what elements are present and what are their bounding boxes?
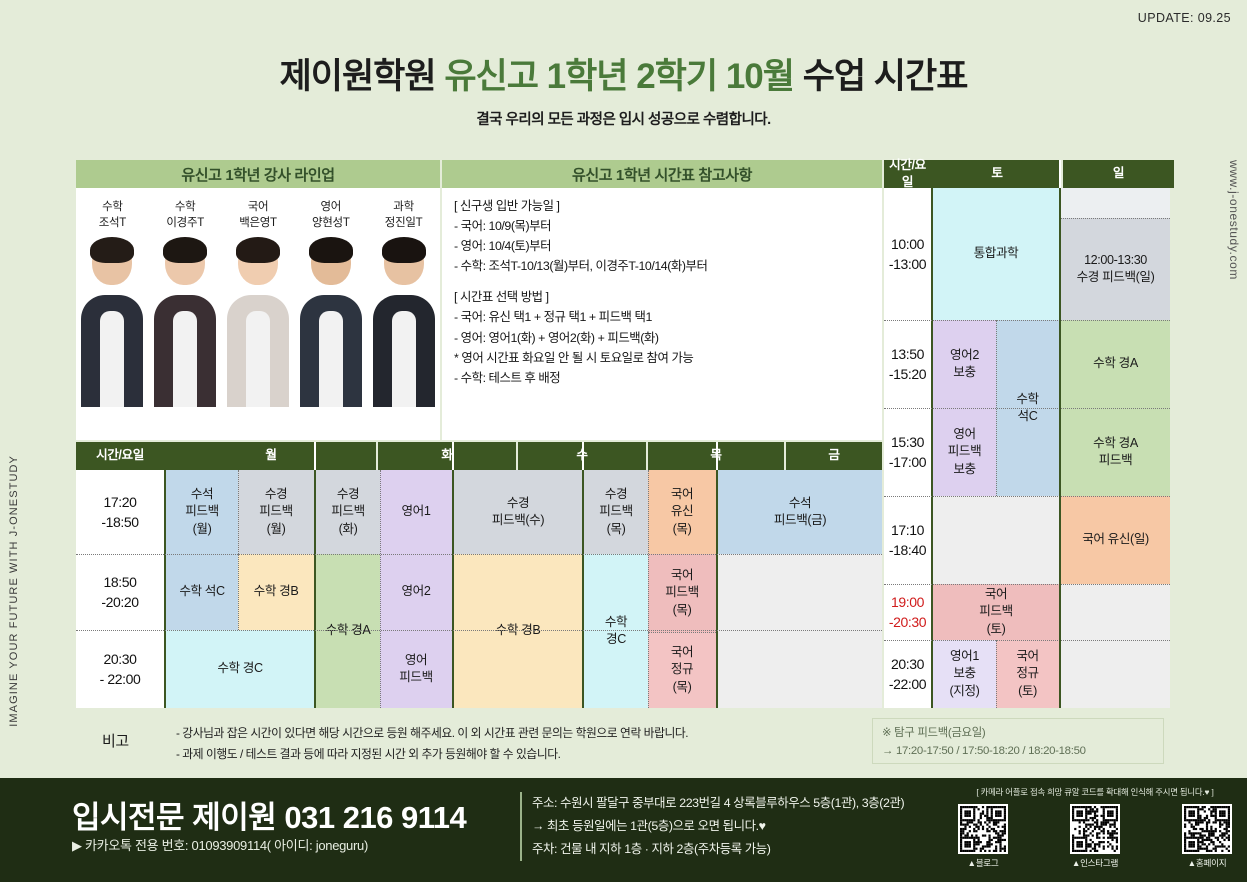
address-line: 주차: 건물 내 지하 1층 · 지하 2층(주차등록 가능) (532, 838, 904, 861)
weekend-class-cell[interactable]: 영어피드백보충 (933, 408, 996, 496)
qr-code-image[interactable] (1182, 804, 1232, 854)
weekend-col-divider (996, 320, 997, 496)
weekday-row-divider (76, 554, 882, 555)
weekday-table: 시간/요일월화수목금17:20-18:5018:50-20:2020:30- 2… (76, 442, 882, 708)
notes-group-admission: [ 신구생 입반 가능일 ]- 국어: 10/9(목)부터- 영어: 10/4(… (454, 196, 872, 276)
remarks-section: 비고 - 강사님과 잡은 시간이 있다면 해당 시간으로 등원 해주세요. 이 … (76, 714, 1170, 772)
weekday-time-slot: 18:50-20:20 (76, 554, 164, 630)
notes-spacer (454, 276, 872, 287)
weekday-header-5: 금 (786, 442, 882, 470)
weekday-class-cell[interactable]: 영어1 (380, 470, 452, 554)
teacher-card: 수학조석T (76, 188, 149, 440)
weekend-divider (931, 160, 933, 708)
weekend-class-cell[interactable]: 통합과학 (933, 188, 1059, 320)
qr-instruction: [ 카메라 어플로 접속 희망 큐알 코드를 확대해 인식해 주시면 됩니다.♥… (950, 786, 1240, 798)
weekday-col-divider (452, 470, 454, 708)
poster-root: UPDATE: 09.25 제이원학원 유신고 1학년 2학기 10월 수업 시… (0, 0, 1247, 882)
teacher-photo (374, 239, 434, 407)
weekday-class-cell[interactable]: 영어2 (380, 554, 452, 630)
weekend-class-cell[interactable]: 12:00-13:30수경 피드백(일) (1061, 218, 1170, 320)
footer-phone: 입시전문 제이원 031 216 9114 (72, 792, 466, 837)
remark-line: - 강사님과 잡은 시간이 있다면 해당 시간으로 등원 해주세요. 이 외 시… (176, 723, 688, 744)
title-suffix: 수업 시간표 (803, 57, 968, 96)
weekend-class-cell[interactable]: 수학 경A피드백 (1061, 408, 1170, 496)
weekend-empty-cell (933, 496, 1059, 584)
teacher-card: 수학이경주T (149, 188, 222, 440)
weekend-row-divider (884, 640, 1170, 641)
weekday-header-1: 월 (166, 442, 376, 470)
remarks-lines: - 강사님과 잡은 시간이 있다면 해당 시간으로 등원 해주세요. 이 외 시… (176, 723, 688, 764)
left-vertical-tagline: IMAGINE YOUR FUTURE WITH J-ONESTUDY (8, 455, 20, 727)
teacher-name: 과학정진일T (385, 200, 423, 231)
qr-label: ▲인스타그램 (1072, 857, 1118, 869)
weekend-class-cell[interactable] (1061, 584, 1170, 708)
schedule-board: 유신고 1학년 강사 라인업 유신고 1학년 시간표 참고사항 수학조석T수학이… (76, 160, 1170, 708)
teacher-card: 영어양현성T (294, 188, 367, 440)
qr-label: ▲홈페이지 (1188, 857, 1227, 869)
qr-code-image[interactable] (1070, 804, 1120, 854)
weekday-class-cell[interactable]: 수경피드백(화) (316, 470, 380, 554)
footer-address: 주소: 수원시 팔달구 중부대로 223번길 4 상록블루하우스 5층(1관),… (520, 792, 904, 861)
qr-code-image[interactable] (958, 804, 1008, 854)
weekend-class-cell[interactable]: 국어 유신(일) (1061, 496, 1170, 584)
weekday-class-cell[interactable]: 수학 경C (166, 630, 314, 708)
weekend-time-slot: 15:30-17:00 (884, 408, 931, 496)
note-line: [ 시간표 선택 방법 ] (454, 287, 872, 307)
weekday-divider (716, 442, 718, 470)
teacher-photo (82, 239, 142, 407)
title-academy: 제이원학원 (280, 57, 436, 96)
weekday-class-cell[interactable]: 국어유신(목) (648, 470, 716, 554)
lineup-heading: 유신고 1학년 강사 라인업 (76, 160, 440, 188)
weekend-header-0: 시간/요일 (884, 160, 931, 188)
weekday-header-0: 시간/요일 (76, 442, 164, 470)
weekend-table: 시간/요일토일10:00-13:0013:50-15:2015:30-17:00… (884, 160, 1170, 708)
weekend-row-divider (884, 320, 1170, 321)
weekday-class-cell[interactable]: 수경피드백(수) (454, 470, 582, 554)
weekday-class-cell[interactable]: 수석피드백(월) (166, 470, 238, 554)
page-title: 제이원학원 유신고 1학년 2학기 10월 수업 시간표 (0, 48, 1247, 99)
address-line: → 최초 등원일에는 1관(5층)으로 오면 됩니다.♥ (532, 815, 904, 838)
weekend-row-divider (884, 496, 1170, 497)
weekend-header-2: 일 (1063, 160, 1174, 188)
weekday-class-cell[interactable]: 수경피드백(목) (584, 470, 648, 554)
weekend-row-divider (884, 584, 1170, 585)
remark-line: - 과제 이행도 / 테스트 결과 등에 따라 지정된 시간 외 추가 등원해야… (176, 744, 688, 765)
weekday-col-divider (314, 470, 316, 708)
note-line: - 국어: 유신 택1 + 정규 택1 + 피드백 택1 (454, 307, 872, 327)
teacher-name: 수학이경주T (166, 200, 204, 231)
teacher-card: 국어백은영T (222, 188, 295, 440)
teacher-name: 국어백은영T (239, 200, 277, 231)
note-line: - 국어: 10/9(목)부터 (454, 216, 872, 236)
qr-label: ▲블로그 (967, 857, 998, 869)
footer: 입시전문 제이원 031 216 9114 ▶ 카카오톡 전용 번호: 0109… (0, 778, 1247, 882)
teacher-photo (228, 239, 288, 407)
weekday-divider (164, 442, 166, 708)
weekday-row-divider (76, 630, 882, 631)
weekend-class-cell[interactable]: 영어1보충(지정) (933, 640, 996, 708)
note-line: - 수학: 테스트 후 배정 (454, 368, 872, 388)
weekday-class-cell[interactable]: 수학 경B (454, 554, 582, 708)
teacher-list: 수학조석T수학이경주T국어백은영T영어양현성T과학정진일T (76, 188, 440, 440)
weekday-divider (314, 442, 316, 470)
weekend-empty-cell (1061, 188, 1170, 218)
weekday-class-cell[interactable]: 수학 경A (316, 554, 380, 708)
weekend-time-slot: 19:00-20:30 (884, 584, 931, 640)
teacher-photo (155, 239, 215, 407)
weekday-class-cell[interactable]: 국어피드백(목) (648, 554, 716, 632)
weekend-col-divider (996, 640, 997, 708)
teacher-name: 수학조석T (99, 200, 126, 231)
right-vertical-website: www.j-onestudy.com (1227, 160, 1241, 280)
weekday-class-cell[interactable]: 수석피드백(금) (718, 470, 882, 554)
qr-item: ▲홈페이지 (1182, 804, 1232, 869)
weekend-class-cell[interactable]: 수학 경A (1061, 320, 1170, 408)
weekday-col-divider (648, 470, 649, 708)
weekday-col-divider (716, 470, 718, 708)
weekend-divider (1059, 160, 1061, 188)
weekend-col-divider (1059, 188, 1061, 708)
weekday-divider (452, 442, 454, 470)
notes-group-selection: [ 시간표 선택 방법 ]- 국어: 유신 택1 + 정규 택1 + 피드백 택… (454, 287, 872, 387)
qr-list: ▲블로그▲인스타그램▲홈페이지 (950, 804, 1240, 869)
teacher-photo (301, 239, 361, 407)
weekend-time-slot: 20:30-22:00 (884, 640, 931, 708)
weekday-col-divider (238, 470, 239, 554)
weekday-divider (582, 442, 584, 470)
weekday-class-cell[interactable]: 수경피드백(월) (238, 470, 314, 554)
weekend-row-divider (884, 408, 1170, 409)
weekday-class-cell[interactable]: 수학 경B (238, 554, 314, 630)
weekend-header-1: 토 (933, 160, 1061, 188)
weekend-time-slot: 17:10-18:40 (884, 496, 931, 584)
teacher-lineup: 수학조석T수학이경주T국어백은영T영어양현성T과학정진일T (76, 188, 440, 440)
weekday-class-cell[interactable]: 수학 석C (166, 554, 238, 630)
weekday-class-cell[interactable] (718, 554, 882, 708)
weekday-class-cell[interactable]: 영어피드백 (380, 630, 452, 708)
weekday-class-cell[interactable]: 국어정규(목) (648, 632, 716, 708)
qr-item: ▲블로그 (958, 804, 1008, 869)
note-line: * 영어 시간표 화요일 안 될 시 토요일로 참여 가능 (454, 348, 872, 368)
weekend-time-slot: 10:00-13:00 (884, 188, 931, 320)
weekday-time-slot: 17:20-18:50 (76, 470, 164, 554)
footer-kakao: ▶ 카카오톡 전용 번호: 01093909114( 아이디: joneguru… (72, 835, 368, 854)
title-school-term: 유신고 1학년 2학기 10월 (444, 57, 794, 96)
note-line: - 영어: 영어1(화) + 영어2(화) + 피드백(화) (454, 328, 872, 348)
qr-area: [ 카메라 어플로 접속 희망 큐알 코드를 확대해 인식해 주시면 됩니다.♥… (950, 786, 1240, 869)
teacher-name: 영어양현성T (312, 200, 350, 231)
weekday-col-divider (380, 470, 381, 708)
weekday-col-divider (582, 470, 584, 708)
extra-feedback-box: ※ 탐구 피드백(금요일)→ 17:20-17:50 / 17:50-18:20… (872, 718, 1164, 764)
weekend-class-cell[interactable]: 영어2보충 (933, 320, 996, 408)
note-line: [ 신구생 입반 가능일 ] (454, 196, 872, 216)
weekday-header-2: 화 (378, 442, 516, 470)
note-line: - 영어: 10/4(토)부터 (454, 236, 872, 256)
remarks-label: 비고 (102, 730, 129, 751)
qr-item: ▲인스타그램 (1070, 804, 1120, 869)
notes-heading: 유신고 1학년 시간표 참고사항 (442, 160, 882, 188)
teacher-card: 과학정진일T (367, 188, 440, 440)
weekday-col-divider (238, 554, 239, 630)
address-line: 주소: 수원시 팔달구 중부대로 223번길 4 상록블루하우스 5층(1관),… (532, 792, 904, 815)
update-date: UPDATE: 09.25 (1138, 11, 1231, 25)
weekend-time-slot: 13:50-15:20 (884, 320, 931, 408)
weekend-class-cell[interactable]: 국어정규(토) (996, 640, 1059, 708)
weekday-class-cell[interactable]: 수학경C (584, 554, 648, 708)
weekend-class-cell[interactable]: 국어피드백(토) (933, 584, 1059, 640)
extra-line: → 17:20-17:50 / 17:50-18:20 / 18:20-18:5… (882, 743, 1154, 761)
page-subtitle: 결국 우리의 모든 과정은 입시 성공으로 수렴합니다. (0, 108, 1247, 129)
notes-panel: [ 신구생 입반 가능일 ]- 국어: 10/9(목)부터- 영어: 10/4(… (442, 188, 882, 440)
note-line: - 수학: 조석T-10/13(월)부터, 이경주T-10/14(화)부터 (454, 256, 872, 276)
weekday-time-slot: 20:30- 22:00 (76, 630, 164, 708)
weekend-row-divider (1061, 218, 1170, 219)
extra-line: ※ 탐구 피드백(금요일) (882, 725, 1154, 743)
weekday-row-divider (648, 632, 716, 633)
